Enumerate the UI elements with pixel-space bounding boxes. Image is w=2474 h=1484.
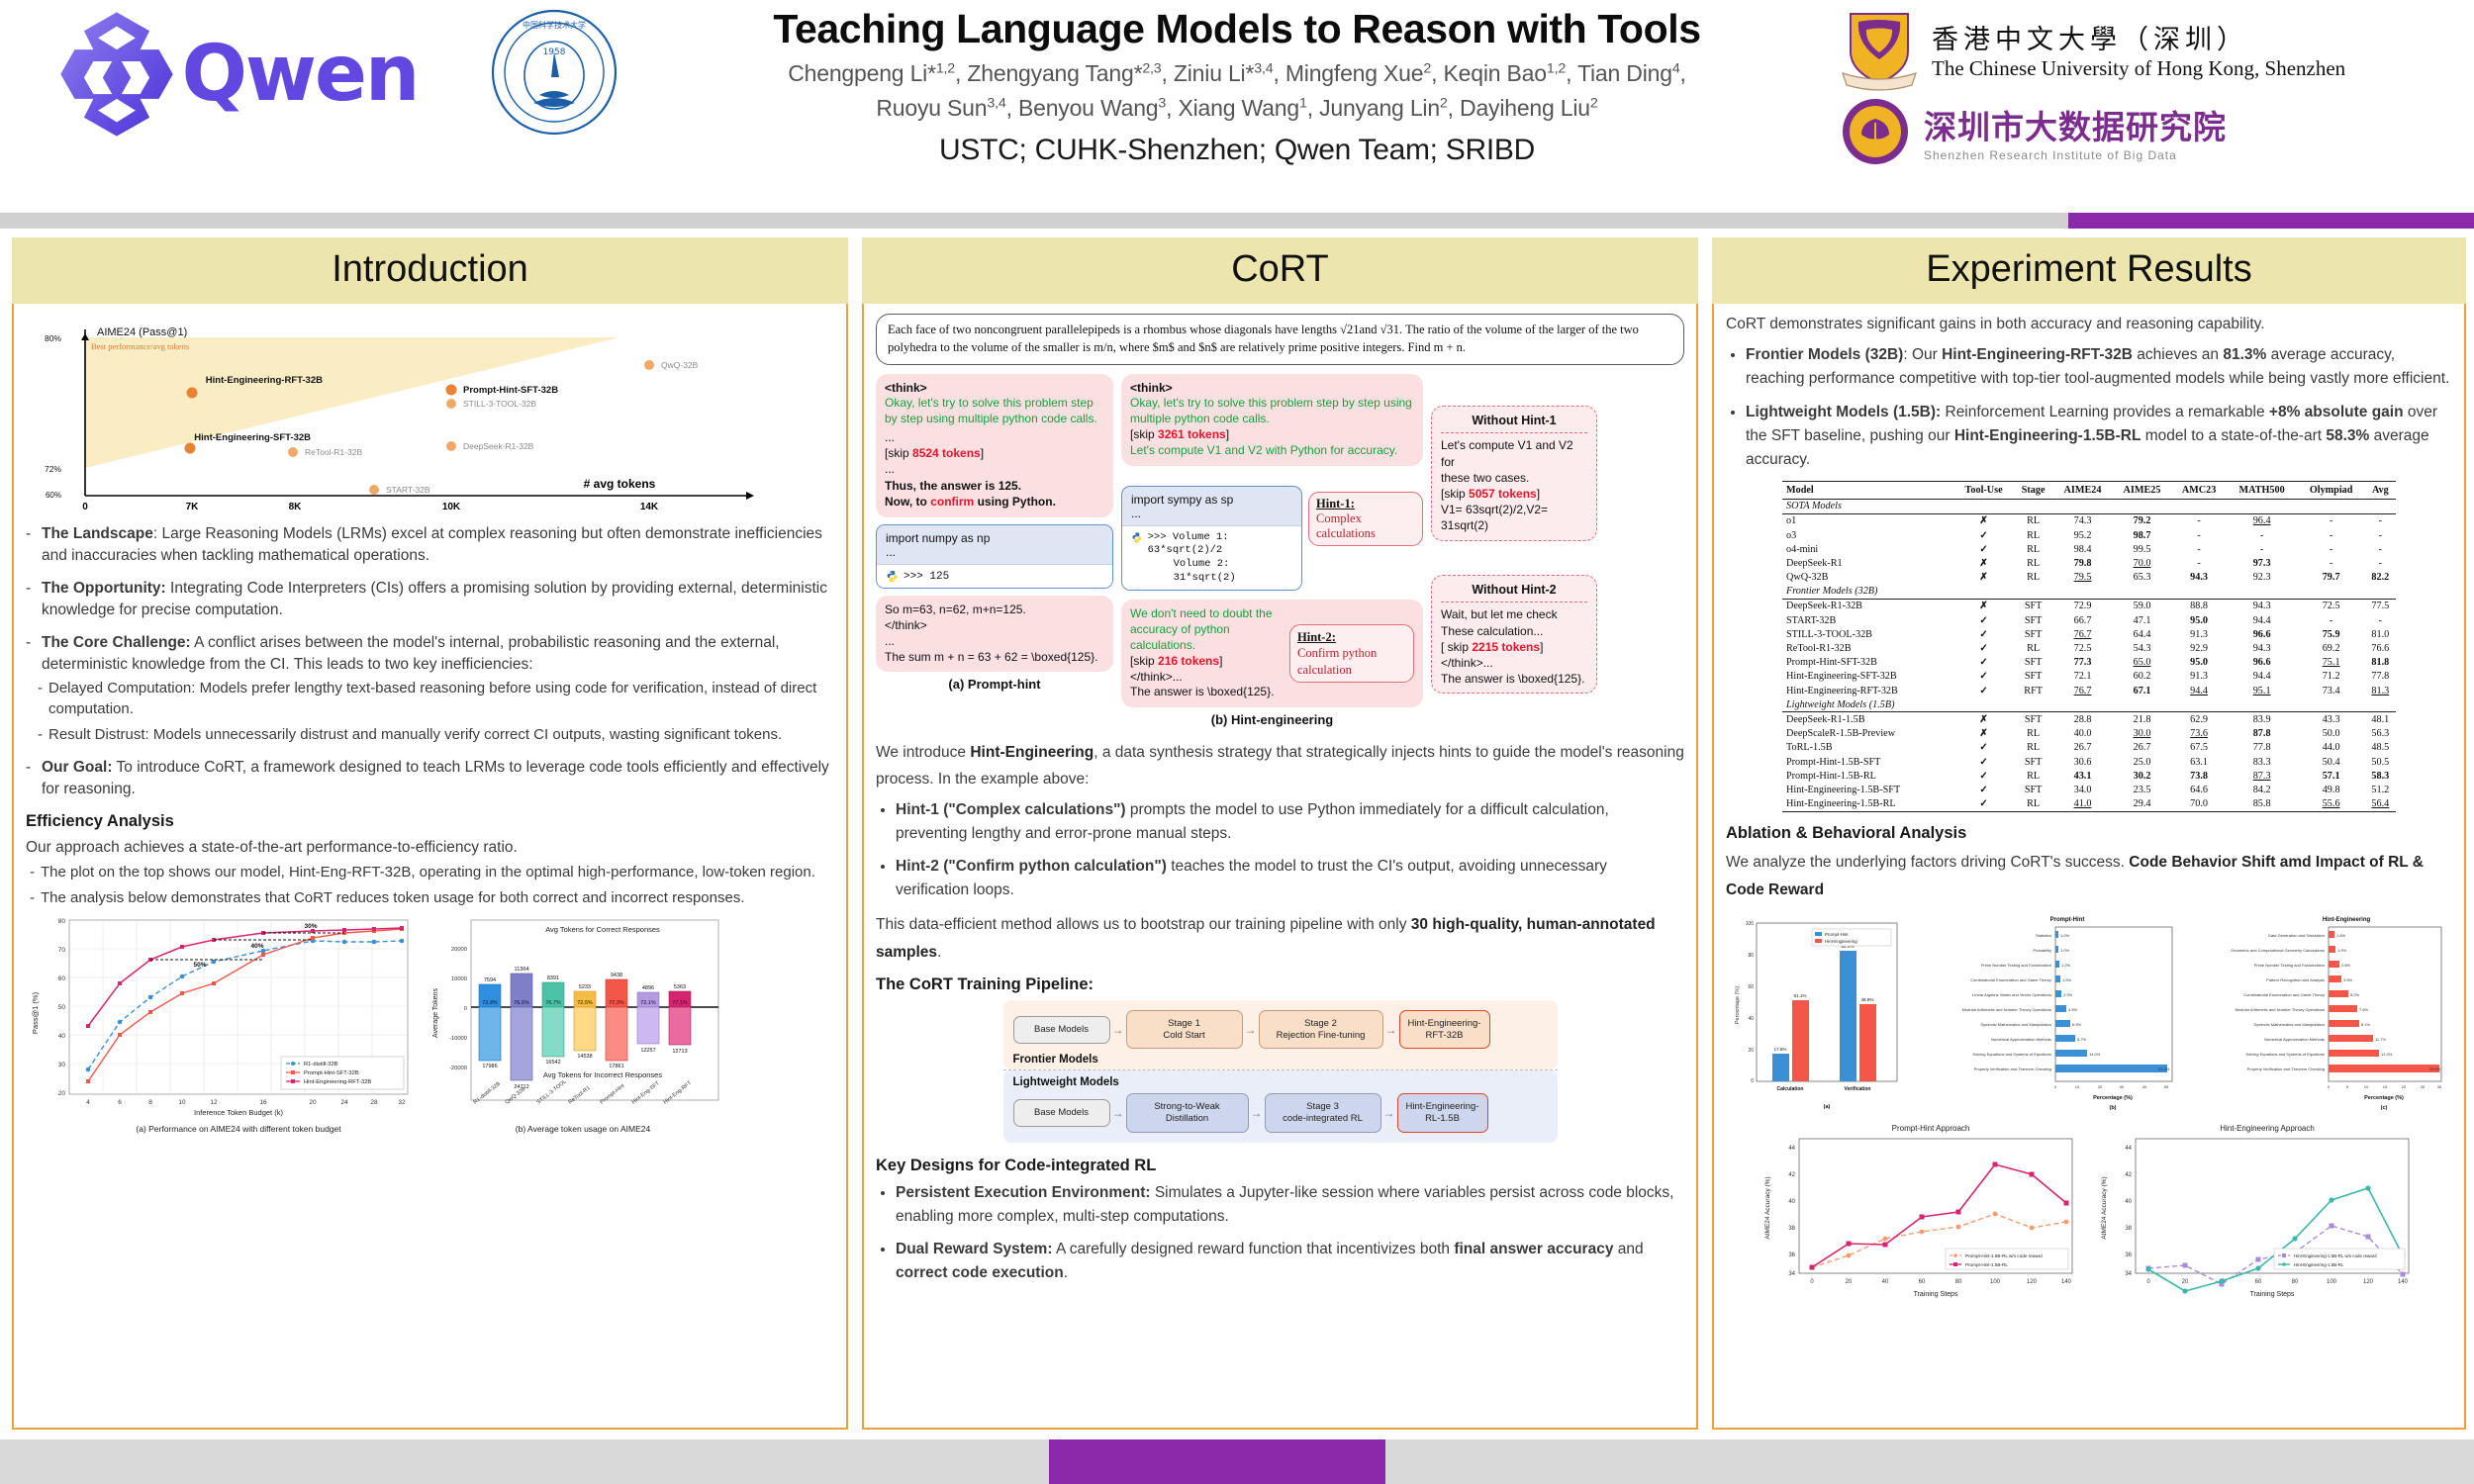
cell-tool-use: ✓ bbox=[1953, 670, 2013, 684]
cell-score: 76.6 bbox=[2365, 641, 2396, 655]
label-lightweight-models: Lightweight Models bbox=[1013, 1076, 1548, 1088]
svg-text:120: 120 bbox=[2363, 1279, 2374, 1285]
cell-score: 83.9 bbox=[2227, 712, 2298, 727]
svg-text:5.2%: 5.2% bbox=[2350, 992, 2360, 997]
svg-text:32: 32 bbox=[398, 1099, 406, 1106]
cell-score: 28.8 bbox=[2053, 712, 2113, 727]
sub-list-item: -Result Distrust: Models unnecessarily d… bbox=[38, 724, 834, 745]
list-item: -The plot on the top shows our model, Hi… bbox=[30, 862, 834, 882]
cell-score: - bbox=[2172, 528, 2227, 542]
cell-stage: SFT bbox=[2014, 613, 2053, 627]
cell-score: 50.4 bbox=[2298, 755, 2365, 769]
cell-score: 51.2 bbox=[2365, 783, 2396, 796]
scatter-xtick-8k: 8K bbox=[289, 502, 303, 512]
col-olympiad: Olympiad bbox=[2298, 481, 2365, 499]
cell-tool-use: ✗ bbox=[1953, 599, 2013, 613]
svg-text:8.1%: 8.1% bbox=[2361, 1022, 2371, 1027]
cell-score: 30.0 bbox=[2113, 727, 2172, 741]
table-row: ToRL-1.5B✓RL26.726.767.577.844.048.5 bbox=[1782, 741, 2396, 755]
cell-score: 81.3 bbox=[2365, 684, 2396, 697]
scatter-xtick-10k: 10K bbox=[442, 502, 461, 512]
cell-model: ReTool-R1-32B bbox=[1782, 641, 1953, 655]
cell-stage: SFT bbox=[2014, 627, 2053, 641]
cell-score: 43.3 bbox=[2298, 712, 2365, 727]
without-hint-1-box: Without Hint-1 Let's compute V1 and V2 f… bbox=[1431, 406, 1597, 541]
svg-text:(b): (b) bbox=[2109, 1105, 2116, 1111]
chart-a-caption: (a) Performance on AIME24 with different… bbox=[136, 1124, 341, 1134]
table-row: Prompt-Hint-1.5B-SFT✓SFT30.625.063.183.3… bbox=[1782, 755, 2396, 769]
cell-score: 95.0 bbox=[2172, 613, 2227, 627]
svg-text:12: 12 bbox=[210, 1099, 218, 1106]
list-item: Persistent Execution Environment: Simula… bbox=[896, 1181, 1684, 1229]
chart-a-ann-40: 40% bbox=[250, 943, 263, 950]
svg-text:16542: 16542 bbox=[545, 1060, 560, 1066]
svg-text:80: 80 bbox=[1955, 1279, 1962, 1285]
svg-text:Property Verification and Theo: Property Verification and Theorem Checki… bbox=[1974, 1067, 2051, 1071]
node-stage3: Stage 3 code-integrated RL bbox=[1265, 1093, 1381, 1133]
cell-score: 75.1 bbox=[2298, 656, 2365, 670]
svg-text:中国科学技术大学: 中国科学技术大学 bbox=[523, 20, 586, 30]
cell-score: 75.9 bbox=[2298, 627, 2365, 641]
cell-model: DeepScaleR-1.5B-Preview bbox=[1782, 727, 1953, 741]
cell-score: 69.2 bbox=[2298, 641, 2365, 655]
cell-score: - bbox=[2298, 556, 2365, 570]
cell-score: 84.2 bbox=[2227, 783, 2298, 796]
cell-score: 30.2 bbox=[2113, 769, 2172, 783]
svg-text:10: 10 bbox=[178, 1099, 186, 1106]
svg-text:76.7%: 76.7% bbox=[545, 1000, 561, 1006]
svg-text:20: 20 bbox=[2402, 1084, 2407, 1089]
svg-text:30: 30 bbox=[2437, 1084, 2442, 1089]
column-cort: CoRT Each face of two noncongruent paral… bbox=[862, 237, 1698, 1439]
cell-tool-use: ✗ bbox=[1953, 712, 2013, 727]
ustc-logo: 1958 中国科学技术大学 bbox=[475, 0, 633, 137]
svg-text:30: 30 bbox=[58, 1062, 66, 1068]
cell-score: 83.3 bbox=[2227, 755, 2298, 769]
svg-text:15: 15 bbox=[2383, 1084, 2388, 1089]
svg-text:Prime Number Testing and Facto: Prime Number Testing and Factorization bbox=[1981, 963, 2051, 968]
cell-score: 70.0 bbox=[2113, 556, 2172, 570]
cell-score: - bbox=[2365, 556, 2396, 570]
node-hint-eng-rl-1-5b: Hint-Engineering- RL-1.5B bbox=[1397, 1093, 1488, 1133]
svg-text:50: 50 bbox=[2164, 1084, 2169, 1089]
cort-body: Each face of two noncongruent parallelep… bbox=[862, 304, 1698, 1430]
efficiency-charts-row: 807060 50403020 468 101216 20242832 Infe… bbox=[26, 914, 834, 1143]
svg-text:Hint-Engineering-1.5B-RL: Hint-Engineering-1.5B-RL bbox=[2294, 1262, 2344, 1267]
legend-hint-eng-rft: Hint-Engineering-RFT-32B bbox=[304, 1079, 371, 1085]
node-lightweight-base: Base Models bbox=[1013, 1099, 1110, 1127]
svg-text:1.9%: 1.9% bbox=[2337, 948, 2347, 953]
cell-score: - bbox=[2227, 542, 2298, 556]
cell-stage: RL bbox=[2014, 542, 2053, 556]
arrow-icon: → bbox=[1249, 1106, 1265, 1120]
cell-tool-use: ✓ bbox=[1953, 741, 2013, 755]
svg-text:0: 0 bbox=[2054, 1084, 2057, 1089]
cell-score: 96.6 bbox=[2227, 627, 2298, 641]
svg-text:Prompt-Hint: Prompt-Hint bbox=[2050, 917, 2085, 923]
svg-text:Prompt-Hint Approach: Prompt-Hint Approach bbox=[1892, 1124, 1970, 1133]
svg-text:AIME24 Accuracy (%): AIME24 Accuracy (%) bbox=[2101, 1177, 2108, 1240]
svg-text:44: 44 bbox=[2125, 1146, 2132, 1152]
svg-text:Data Generation and Simulation: Data Generation and Simulation bbox=[2268, 933, 2325, 938]
chart-a-ann-30: 30% bbox=[304, 923, 317, 930]
svg-text:Solving Equations and Systems: Solving Equations and Systems of Equatio… bbox=[1972, 1052, 2051, 1057]
cell-score: 76.7 bbox=[2053, 684, 2113, 697]
arrow-icon: → bbox=[1383, 1023, 1399, 1037]
svg-text:40: 40 bbox=[1748, 1016, 1754, 1022]
svg-text:Numerical Approximation Method: Numerical Approximation Methods bbox=[2264, 1037, 2325, 1042]
svg-text:0: 0 bbox=[1810, 1279, 1814, 1285]
svg-text:AIME24 Accuracy (%): AIME24 Accuracy (%) bbox=[1764, 1177, 1771, 1240]
svg-text:36: 36 bbox=[2125, 1252, 2132, 1258]
svg-text:0: 0 bbox=[464, 1006, 467, 1012]
scatter-xtick-0: 0 bbox=[82, 502, 88, 512]
cell-score: 70.0 bbox=[2172, 796, 2227, 811]
svg-text:28: 28 bbox=[370, 1099, 378, 1106]
svg-text:100: 100 bbox=[1746, 921, 1755, 927]
svg-text:100: 100 bbox=[2327, 1279, 2337, 1285]
cell-score: 98.4 bbox=[2053, 542, 2113, 556]
cell-score: 72.5 bbox=[2298, 599, 2365, 613]
svg-text:38: 38 bbox=[2125, 1226, 2132, 1232]
svg-text:2.8%: 2.8% bbox=[2341, 963, 2351, 968]
cell-score: 67.5 bbox=[2172, 741, 2227, 755]
cell-tool-use: ✓ bbox=[1953, 769, 2013, 783]
cell-tool-use: ✓ bbox=[1953, 684, 2013, 697]
list-item: - The Opportunity: Integrating Code Inte… bbox=[26, 578, 834, 621]
svg-text:14538: 14538 bbox=[577, 1054, 592, 1060]
svg-text:17.6%: 17.6% bbox=[1773, 1047, 1786, 1052]
panel-prompt-hint: <think> Okay, let's try to solve this pr… bbox=[876, 374, 1113, 693]
cell-model: o1 bbox=[1782, 513, 1953, 528]
cell-score: 85.8 bbox=[2227, 796, 2298, 811]
svg-text:80: 80 bbox=[2292, 1279, 2299, 1285]
svg-text:11364: 11364 bbox=[515, 967, 529, 973]
table-row: DeepSeek-R1✗RL79.870.0-97.3-- bbox=[1782, 556, 2396, 570]
without-hint-2-box: Without Hint-2 Wait, but let me check Th… bbox=[1431, 575, 1597, 695]
cell-score: 91.3 bbox=[2172, 627, 2227, 641]
cell-score: 67.1 bbox=[2113, 684, 2172, 697]
col-aime24: AIME24 bbox=[2053, 481, 2113, 499]
svg-text:34: 34 bbox=[1788, 1271, 1795, 1277]
cell-score: 47.1 bbox=[2113, 613, 2172, 627]
svg-text:60: 60 bbox=[1919, 1279, 1926, 1285]
svg-text:60: 60 bbox=[1748, 984, 1754, 990]
cell-score: - bbox=[2365, 513, 2396, 528]
svg-text:51.1%: 51.1% bbox=[1793, 993, 1806, 998]
svg-text:14.0%: 14.0% bbox=[2089, 1052, 2101, 1057]
results-table: Model Tool-Use Stage AIME24 AIME25 AMC23… bbox=[1782, 481, 2396, 812]
cell-model: DeepSeek-R1 bbox=[1782, 556, 1953, 570]
node-stage1: Stage 1 Cold Start bbox=[1126, 1010, 1243, 1050]
cell-score: 95.1 bbox=[2227, 684, 2298, 697]
scatter-pt-qwq: QwQ-32B bbox=[661, 360, 699, 370]
svg-text:17861: 17861 bbox=[609, 1064, 623, 1069]
sribd-seal-icon bbox=[1841, 97, 1910, 166]
problem-statement-box: Each face of two noncongruent parallelep… bbox=[876, 314, 1684, 365]
cell-score: 71.2 bbox=[2298, 670, 2365, 684]
results-table-wrap: Model Tool-Use Stage AIME24 AIME25 AMC23… bbox=[1782, 481, 2396, 812]
panel-b-caption: (b) Hint-engineering bbox=[1121, 712, 1423, 727]
cell-score: 26.7 bbox=[2113, 741, 2172, 755]
col-math500: MATH500 bbox=[2227, 481, 2298, 499]
cell-score: 73.6 bbox=[2172, 727, 2227, 741]
cell-model: Hint-Engineering-1.5B-SFT bbox=[1782, 783, 1953, 796]
right-logo-group: 香港中文大學（深圳） The Chinese University of Hon… bbox=[1841, 0, 2474, 172]
svg-text:Pattern Recognition and Analys: Pattern Recognition and Analysis bbox=[2266, 977, 2325, 982]
svg-text:8: 8 bbox=[148, 1099, 152, 1106]
cell-tool-use: ✓ bbox=[1953, 656, 2013, 670]
exp-bullets: Frontier Models (32B): Our Hint-Engineer… bbox=[1726, 343, 2452, 471]
svg-text:Combinatorial Enumeration and: Combinatorial Enumeration and Game Theor… bbox=[2243, 992, 2325, 997]
table-group-label: SOTA Models bbox=[1782, 499, 2396, 513]
table-row: START-32B✓SFT66.747.195.094.4-- bbox=[1782, 613, 2396, 627]
cell-stage: RL bbox=[2014, 528, 2053, 542]
cell-score: 88.8 bbox=[2172, 599, 2227, 613]
hint-engineering-figure: <think> Okay, let's try to solve this pr… bbox=[876, 374, 1684, 728]
svg-text:Percentage (%): Percentage (%) bbox=[2093, 1095, 2133, 1101]
svg-text:Hint-Engineering: Hint-Engineering bbox=[1825, 939, 1857, 944]
svg-text:72.9%: 72.9% bbox=[482, 1000, 498, 1006]
table-group-row: Frontier Models (32B) bbox=[1782, 585, 2396, 600]
cell-score: - bbox=[2365, 613, 2396, 627]
cell-score: - bbox=[2172, 556, 2227, 570]
svg-text:10000: 10000 bbox=[451, 976, 467, 982]
hint-engineering-rl-curve-chart: Hint-Engineering Approach 444240 383634 … bbox=[2094, 1119, 2421, 1307]
svg-text:1.5%: 1.5% bbox=[2062, 977, 2072, 982]
scatter-pt-retool: ReTool-R1-32B bbox=[305, 447, 362, 457]
cell-model: Hint-Engineering-1.5B-RL bbox=[1782, 796, 1953, 811]
cell-stage: RL bbox=[2014, 796, 2053, 811]
sribd-name-cn: 深圳市大数据研究院 bbox=[1924, 101, 2227, 148]
bullet-lead: Our Goal: bbox=[42, 759, 112, 776]
svg-text:1.2%: 1.2% bbox=[2061, 963, 2071, 968]
scatter-xtick-14k: 14K bbox=[640, 502, 659, 512]
svg-text:17986: 17986 bbox=[482, 1064, 497, 1069]
cell-score: 56.4 bbox=[2365, 796, 2396, 811]
svg-text:Combinatorial Enumeration and: Combinatorial Enumeration and Game Theor… bbox=[1970, 977, 2051, 982]
cell-score: 60.2 bbox=[2113, 670, 2172, 684]
svg-text:20: 20 bbox=[1748, 1048, 1754, 1054]
svg-text:2.0%: 2.0% bbox=[2063, 992, 2073, 997]
svg-text:0: 0 bbox=[2328, 1084, 2331, 1089]
arrow-icon: → bbox=[1110, 1023, 1126, 1037]
table-row: Hint-Engineering-1.5B-SFT✓SFT34.023.564.… bbox=[1782, 783, 2396, 796]
table-row: o1✗RL74.379.2-96.4-- bbox=[1782, 513, 2396, 528]
cell-score: 64.4 bbox=[2113, 627, 2172, 641]
cell-tool-use: ✓ bbox=[1953, 542, 2013, 556]
svg-text:5: 5 bbox=[2346, 1084, 2349, 1089]
cuhk-name-cn: 香港中文大學（深圳） bbox=[1932, 18, 2345, 56]
table-row: DeepSeek-R1-1.5B✗SFT28.821.862.983.943.3… bbox=[1782, 712, 2396, 727]
cell-score: 87.8 bbox=[2227, 727, 2298, 741]
scatter-pt-he-rft: Hint-Engineering-RFT-32B bbox=[206, 375, 323, 386]
node-hint-eng-rft-32b: Hint-Engineering- RFT-32B bbox=[1399, 1010, 1490, 1050]
cell-tool-use: ✗ bbox=[1953, 556, 2013, 570]
prompt-hint-category-chart: Prompt-Hint Statistics1.0% Probability1.… bbox=[1909, 911, 2178, 1115]
cell-stage: RL bbox=[2014, 727, 2053, 741]
scatter-annotation: Best performance/avg tokens bbox=[91, 341, 189, 351]
hint-1-callout: Hint-1: Complex calculations bbox=[1308, 492, 1423, 546]
svg-text:36: 36 bbox=[1788, 1252, 1795, 1258]
col-stage: Stage bbox=[2014, 481, 2053, 499]
svg-text:4.5%: 4.5% bbox=[2068, 1007, 2078, 1012]
svg-text:Property Verification and Theo: Property Verification and Theorem Checki… bbox=[2247, 1067, 2325, 1071]
cell-model: ToRL-1.5B bbox=[1782, 741, 1953, 755]
cell-tool-use: ✓ bbox=[1953, 755, 2013, 769]
svg-text:0: 0 bbox=[1751, 1078, 1754, 1084]
data-efficiency-text: This data-efficient method allows us to … bbox=[876, 911, 1684, 965]
cell-tool-use: ✓ bbox=[1953, 613, 2013, 627]
python-icon bbox=[886, 570, 899, 583]
list-item: - The Core Challenge: A conflict arises … bbox=[26, 632, 834, 676]
cell-score: 94.4 bbox=[2172, 684, 2227, 697]
svg-text:1958: 1958 bbox=[543, 47, 566, 57]
page-title: Teaching Language Models to Reason with … bbox=[633, 6, 1841, 52]
chart-a-xlabel: Inference Token Budget (k) bbox=[194, 1108, 283, 1117]
svg-text:20: 20 bbox=[2182, 1279, 2189, 1285]
svg-text:10: 10 bbox=[2075, 1084, 2080, 1089]
svg-text:7.6%: 7.6% bbox=[2359, 1007, 2369, 1012]
cell-score: 59.0 bbox=[2113, 599, 2172, 613]
pipeline-frontier-band: Base Models → Stage 1 Cold Start → Stage… bbox=[1003, 1000, 1558, 1070]
svg-text:Geometric and Computational Ge: Geometric and Computational Geometry Cal… bbox=[2231, 948, 2325, 953]
svg-text:20: 20 bbox=[1846, 1279, 1853, 1285]
cell-score: 25.0 bbox=[2113, 755, 2172, 769]
python-icon bbox=[1131, 531, 1143, 544]
hint-bullets: Hint-1 ("Complex calculations") prompts … bbox=[876, 798, 1684, 902]
scatter-ytick-80: 80% bbox=[45, 333, 61, 343]
svg-text:Symbolic Mathematics and Manip: Symbolic Mathematics and Manipulation bbox=[1980, 1022, 2051, 1027]
cell-score: - bbox=[2298, 542, 2365, 556]
cell-model: o4-mini bbox=[1782, 542, 1953, 556]
svg-text:Solving Equations and Systems: Solving Equations and Systems of Equatio… bbox=[2245, 1052, 2325, 1057]
table-row: STILL-3-TOOL-32B✓SFT76.764.491.396.675.9… bbox=[1782, 627, 2396, 641]
ustc-seal-icon: 1958 中国科学技术大学 bbox=[490, 8, 618, 137]
cell-tool-use: ✗ bbox=[1953, 513, 2013, 528]
cell-score: 26.7 bbox=[2053, 741, 2113, 755]
introduction-bullets: - The Landscape: Large Reasoning Models … bbox=[26, 523, 834, 800]
cell-score: 56.3 bbox=[2365, 727, 2396, 741]
author-line-2: Ruoyu Sun3,4, Benyou Wang3, Xiang Wang1,… bbox=[633, 95, 1841, 122]
think-block-b: <think> Okay, let's try to solve this pr… bbox=[1121, 374, 1423, 466]
table-row: Hint-Engineering-1.5B-RL✓RL41.029.470.08… bbox=[1782, 796, 2396, 811]
bullet-lead: The Opportunity: bbox=[42, 580, 166, 597]
cell-score: 77.8 bbox=[2365, 670, 2396, 684]
code-block-a: import numpy as np ... >>> 125 bbox=[876, 524, 1113, 589]
cell-tool-use: ✓ bbox=[1953, 528, 2013, 542]
svg-text:70: 70 bbox=[58, 947, 66, 954]
hint-2-callout: Hint-2: Confirm python calculation bbox=[1289, 624, 1414, 684]
cell-score: 65.0 bbox=[2113, 656, 2172, 670]
svg-text:10: 10 bbox=[2364, 1084, 2369, 1089]
svg-text:1.6%: 1.6% bbox=[2336, 933, 2346, 938]
svg-text:44: 44 bbox=[1788, 1146, 1795, 1152]
svg-text:80: 80 bbox=[1748, 953, 1754, 959]
section-title-experiment-results: Experiment Results bbox=[1712, 237, 2466, 304]
svg-text:9438: 9438 bbox=[611, 973, 622, 978]
cell-tool-use: ✓ bbox=[1953, 796, 2013, 811]
hint-engineering-category-chart: Hint-Engineering Data Generation and Sim… bbox=[2180, 911, 2449, 1115]
svg-text:1.0%: 1.0% bbox=[2060, 948, 2070, 953]
cell-score: 79.2 bbox=[2113, 513, 2172, 528]
cell-score: 91.3 bbox=[2172, 670, 2227, 684]
hint-engineering-intro: We introduce Hint-Engineering, a data sy… bbox=[876, 739, 1684, 792]
chart-a-ann-50: 50% bbox=[193, 962, 206, 969]
svg-text:72.1%: 72.1% bbox=[640, 1000, 656, 1006]
efficiency-heading: Efficiency Analysis bbox=[26, 812, 834, 831]
ablation-heading: Ablation & Behavioral Analysis bbox=[1726, 824, 2452, 843]
cell-score: 77.8 bbox=[2227, 741, 2298, 755]
cell-score: 48.5 bbox=[2365, 741, 2396, 755]
cell-score: 96.6 bbox=[2227, 656, 2298, 670]
cell-stage: RL bbox=[2014, 769, 2053, 783]
cell-model: QwQ-32B bbox=[1782, 570, 1953, 584]
svg-text:80: 80 bbox=[58, 918, 66, 925]
table-row: o4-mini✓RL98.499.5---- bbox=[1782, 542, 2396, 556]
panel-a-caption: (a) Prompt-hint bbox=[876, 677, 1113, 692]
table-row: DeepScaleR-1.5B-Preview✗RL40.030.073.687… bbox=[1782, 727, 2396, 741]
bullet-lead: The Landscape bbox=[42, 525, 153, 542]
ablation-text: We analyze the underlying factors drivin… bbox=[1726, 849, 2452, 904]
svg-text:Numerical Approximation Method: Numerical Approximation Methods bbox=[1991, 1037, 2051, 1042]
svg-text:20: 20 bbox=[309, 1099, 317, 1106]
cuhk-logo: 香港中文大學（深圳） The Chinese University of Hon… bbox=[1841, 8, 2460, 91]
svg-text:38: 38 bbox=[1788, 1226, 1795, 1232]
svg-text:24: 24 bbox=[340, 1099, 348, 1106]
cell-score: 63.1 bbox=[2172, 755, 2227, 769]
svg-text:Percentage (%): Percentage (%) bbox=[2364, 1095, 2404, 1101]
svg-text:77.1%: 77.1% bbox=[672, 1000, 688, 1006]
table-group-row: Lightweight Models (1.5B) bbox=[1782, 697, 2396, 712]
table-row: Prompt-Hint-SFT-32B✓SFT77.365.095.096.67… bbox=[1782, 656, 2396, 670]
cell-score: 34.0 bbox=[2053, 783, 2113, 796]
cell-tool-use: ✓ bbox=[1953, 641, 2013, 655]
sub-list-item: -Delayed Computation: Models prefer leng… bbox=[38, 678, 834, 720]
svg-text:48.9%: 48.9% bbox=[1860, 997, 1873, 1002]
poster-header: Qwen 1958 中国科学技术大学 Teaching Language Mod… bbox=[0, 0, 2474, 193]
cell-score: 76.7 bbox=[2053, 627, 2113, 641]
section-title-introduction: Introduction bbox=[12, 237, 848, 304]
legend-prompt-hint-sft: Prompt-Hint-SFT-32B bbox=[304, 1070, 359, 1076]
svg-text:Training Steps: Training Steps bbox=[2250, 1291, 2295, 1298]
svg-text:6.5%: 6.5% bbox=[2072, 1022, 2082, 1027]
cell-model: Prompt-Hint-1.5B-SFT bbox=[1782, 755, 1953, 769]
chart-b-ylabel: Average Tokens bbox=[432, 987, 439, 1037]
cell-model: START-32B bbox=[1782, 613, 1953, 627]
svg-text:29.6%: 29.6% bbox=[2429, 1067, 2441, 1071]
cell-score: 95.0 bbox=[2172, 656, 2227, 670]
cell-score: 41.0 bbox=[2053, 796, 2113, 811]
label-frontier-models: Frontier Models bbox=[1013, 1054, 1548, 1066]
table-row: DeepSeek-R1-32B✗SFT72.959.088.894.372.57… bbox=[1782, 599, 2396, 613]
svg-text:77.3%: 77.3% bbox=[609, 1000, 624, 1006]
svg-text:12713: 12713 bbox=[672, 1049, 687, 1055]
node-distillation: Strong-to-Weak Distillation bbox=[1126, 1093, 1249, 1133]
svg-text:12257: 12257 bbox=[640, 1048, 655, 1054]
cell-model: o3 bbox=[1782, 528, 1953, 542]
svg-text:3.5%: 3.5% bbox=[2343, 977, 2353, 982]
cell-score: 98.7 bbox=[2113, 528, 2172, 542]
cell-score: 62.9 bbox=[2172, 712, 2227, 727]
prompt-hint-rl-curve-chart: Prompt-Hint Approach 444240 383634 02040… bbox=[1758, 1119, 2084, 1307]
svg-text:40: 40 bbox=[2142, 1084, 2147, 1089]
key-designs-heading: Key Designs for Code-integrated RL bbox=[876, 1157, 1684, 1175]
sribd-name-en: Shenzhen Research Institute of Big Data bbox=[1924, 148, 2227, 162]
bullet-lead: The Core Challenge: bbox=[42, 634, 191, 651]
svg-text:Hint-Engineering-1.5B-RL w/o c: Hint-Engineering-1.5B-RL w/o code reward bbox=[2294, 1253, 2377, 1258]
cell-score: 82.2 bbox=[2365, 570, 2396, 584]
